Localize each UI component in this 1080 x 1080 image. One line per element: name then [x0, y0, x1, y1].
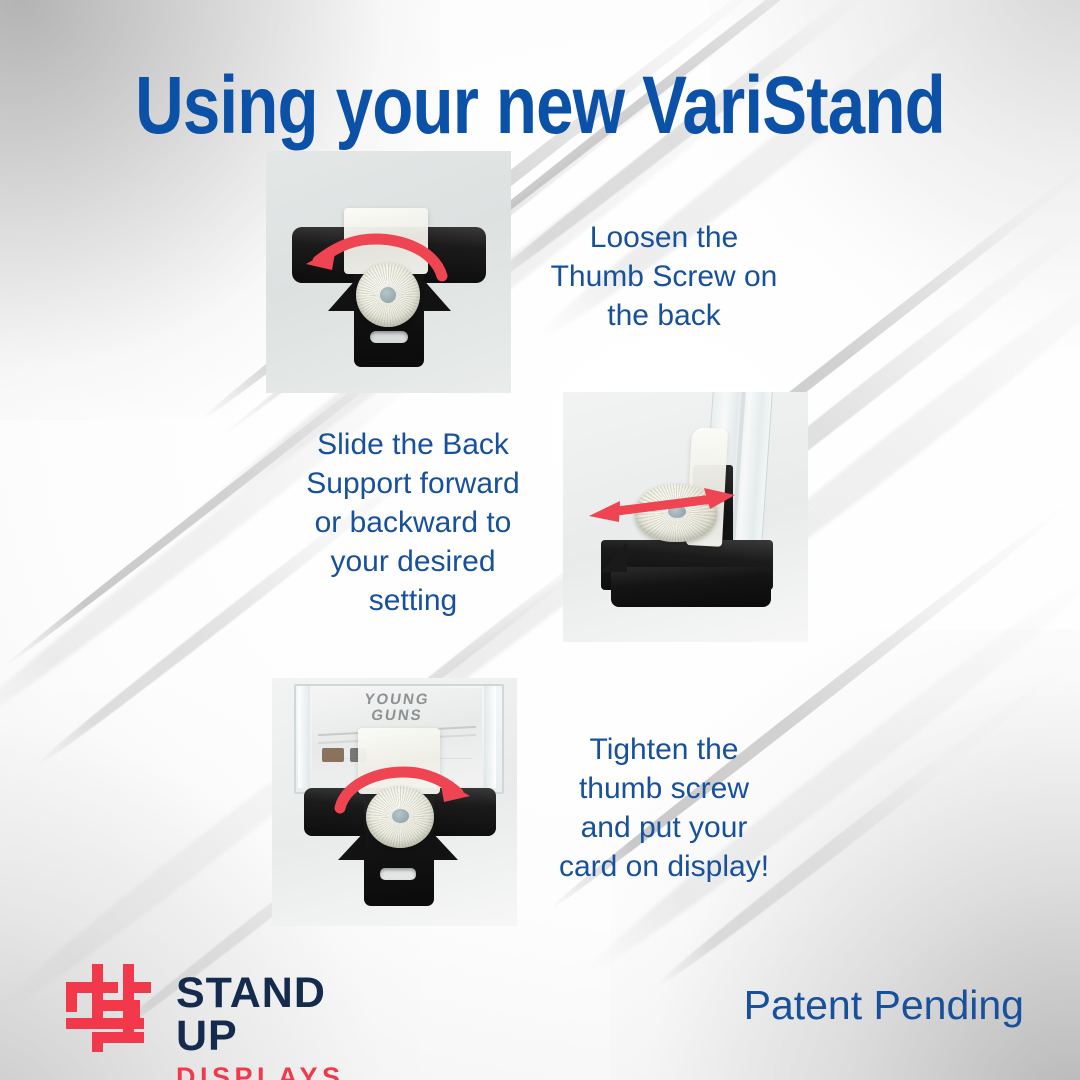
caption-line: Loosen the [519, 218, 809, 257]
varistand-side-view [563, 392, 808, 642]
caption-line: Thumb Screw on [519, 257, 809, 296]
logo-brand-primary: STAND UP [176, 972, 374, 1058]
step-1-caption: Loosen the Thumb Screw on the back [519, 218, 809, 335]
caption-line: and put your [519, 808, 809, 847]
poster-canvas: Using your new VariStand [0, 0, 1080, 1080]
caption-line: Support forward [268, 464, 558, 503]
varistand-with-card-view: YOUNG GUNS [272, 678, 517, 926]
caption-line: or backward to [268, 503, 558, 542]
caption-line: Slide the Back [268, 425, 558, 464]
logo-brand-secondary: DISPLAYS [176, 1064, 374, 1080]
caption-line: Tighten the [519, 730, 809, 769]
step-3-photo: YOUNG GUNS [272, 678, 517, 926]
caption-line: the back [519, 296, 809, 335]
caption-line: your desired [268, 542, 558, 581]
patent-pending-label: Patent Pending [744, 985, 1024, 1026]
stand-up-displays-mark-icon [64, 962, 160, 1054]
caption-line: thumb screw [519, 769, 809, 808]
page-title: Using your new VariStand [97, 63, 983, 149]
step-1-photo [266, 151, 511, 393]
curved-arrow-right-icon [272, 678, 517, 926]
step-3-caption: Tighten the thumb screw and put your car… [519, 730, 809, 886]
brand-logo[interactable]: STAND UP DISPLAYS [64, 962, 374, 1052]
caption-line: card on display! [519, 847, 809, 886]
double-headed-horizontal-arrow-icon [563, 392, 808, 642]
varistand-front-view [266, 151, 511, 393]
logo-wordmark: STAND UP DISPLAYS [176, 972, 374, 1080]
step-2-photo [563, 392, 808, 642]
caption-line: setting [268, 581, 558, 620]
curved-arrow-left-icon [266, 151, 511, 393]
step-2-caption: Slide the Back Support forward or backwa… [268, 425, 558, 620]
